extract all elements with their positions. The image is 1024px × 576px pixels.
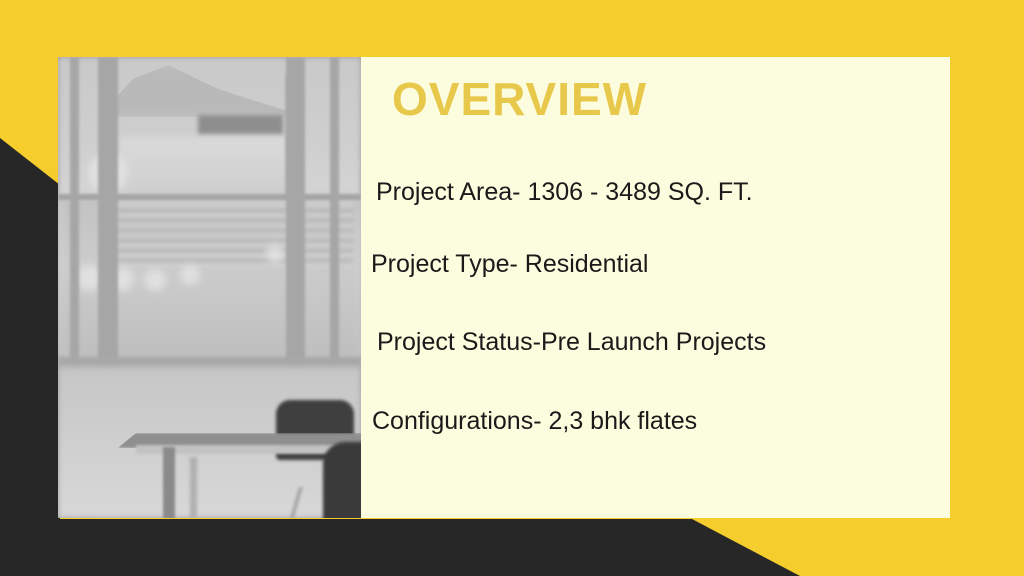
decorative-dark-band-bottom: [0, 519, 800, 576]
photo-desk-leg: [163, 447, 175, 518]
detail-configurations: Configurations- 2,3 bhk flates: [372, 406, 697, 437]
photo-chair-near: [323, 442, 361, 518]
detail-project-area: Project Area- 1306 - 3489 SQ. FT.: [376, 177, 753, 208]
office-photo: [58, 57, 361, 518]
photo-building: [118, 137, 293, 197]
photo-bokeh-light: [266, 245, 284, 263]
slide-canvas: OVERVIEW Project Area- 1306 - 3489 SQ. F…: [0, 0, 1024, 576]
photo-desk-leg: [190, 457, 197, 518]
photo-sign-bar: [198, 115, 283, 134]
text-panel: OVERVIEW Project Area- 1306 - 3489 SQ. F…: [361, 57, 950, 518]
detail-project-type: Project Type- Residential: [371, 249, 648, 280]
photo-bokeh-light: [144, 269, 166, 291]
content-card: OVERVIEW Project Area- 1306 - 3489 SQ. F…: [58, 57, 950, 518]
photo-baseboard: [58, 357, 361, 367]
photo-blinds: [113, 203, 353, 269]
page-title: OVERVIEW: [392, 74, 647, 125]
detail-project-status: Project Status-Pre Launch Projects: [377, 327, 766, 358]
photo-bokeh-light: [180, 265, 200, 285]
